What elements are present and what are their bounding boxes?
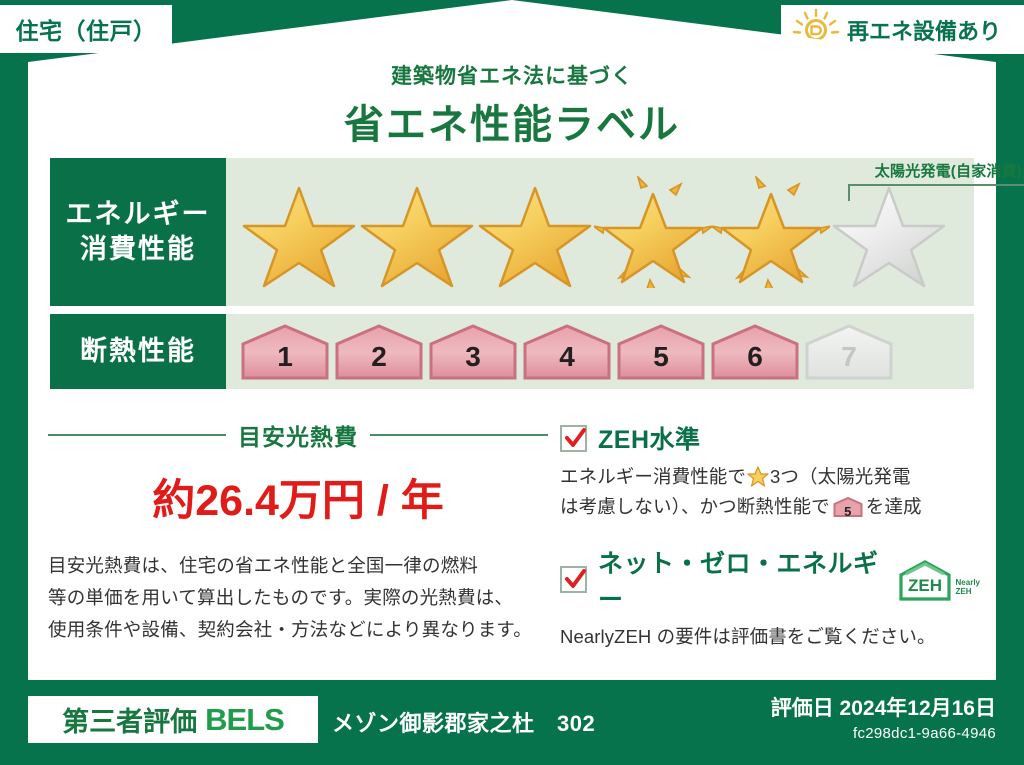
star-icon-solar-4 <box>594 176 712 288</box>
house-level-number: 1 <box>240 341 330 373</box>
checkbox-net-zero-energy[interactable] <box>560 566 587 593</box>
insulation-house-group: 1 2 3 <box>226 314 974 389</box>
property-name: メゾン御影郡家之杜 302 <box>332 706 595 738</box>
checkbox-zeh-standard[interactable] <box>560 425 587 452</box>
house-level-number: 3 <box>428 341 518 373</box>
cost-note-line-2: 等の単価を用いて算出したものです。実際の光熱費は、 <box>48 582 548 614</box>
evaluation-meta: 評価日 2024年12月16日 fc298dc1-9a66-4946 <box>771 692 996 742</box>
house-level-number: 5 <box>616 341 706 373</box>
renewable-equipment-label: 再エネ設備あり <box>847 14 1001 46</box>
zeh-standard-row: ZEH水準 <box>560 420 980 456</box>
footer-bar: 第三者評価 BELS メゾン御影郡家之杜 302 評価日 2024年12月16日… <box>0 682 1024 765</box>
estimated-cost-note: 目安光熱費は、住宅の省エネ性能と全国一律の燃料 等の単価を用いて算出したものです… <box>48 550 548 645</box>
page-title: 省エネ性能ラベル <box>0 92 1024 150</box>
house-icon-level-7: 7 <box>804 324 894 380</box>
house-level-number: 6 <box>710 341 800 373</box>
estimated-cost-value: 約26.4万円 / 年 <box>48 466 548 528</box>
nearly-zeh-line1: Nearly <box>956 578 980 587</box>
house-inline-number: 5 <box>833 501 863 522</box>
star-icon-solar-5 <box>712 176 830 288</box>
zeh-desc-part-d: を達成 <box>866 496 922 517</box>
zeh-desc-part-a: エネルギー消費性能で <box>560 466 746 487</box>
house-level-number: 7 <box>804 341 894 373</box>
cost-note-line-3: 使用条件や設備、契約会社・方法などにより異なります。 <box>48 614 548 646</box>
zeh-desc-part-b: 3つ（太陽光発電 <box>770 466 911 487</box>
insulation-rating-track: 1 2 3 <box>226 314 974 389</box>
house-icon-level-1: 1 <box>240 324 330 380</box>
label-heading: 建築物省エネ法に基づく 省エネ性能ラベル <box>0 60 1024 150</box>
estimated-cost-heading: 目安光熱費 <box>48 418 548 452</box>
house-level-number: 2 <box>334 341 424 373</box>
house-icon-level-5: 5 <box>616 324 706 380</box>
star-icon-filled-1 <box>240 176 358 288</box>
energy-performance-label: 住宅（住戸） <box>0 0 1024 765</box>
solar-bracket <box>848 184 1024 201</box>
house-icon-level-3: 3 <box>428 324 518 380</box>
bels-badge: 第三者評価 BELS <box>28 696 318 743</box>
cost-note-line-1: 目安光熱費は、住宅の省エネ性能と全国一律の燃料 <box>48 550 548 582</box>
insulation-row: 断熱性能 1 <box>50 314 974 389</box>
net-zero-energy-description: NearlyZEH の要件は評価書をご覧ください。 <box>560 622 980 652</box>
zeh-standard-title: ZEH水準 <box>598 420 701 456</box>
energy-rating-track: 太陽光発電(自家消費)分 <box>226 158 974 306</box>
svg-text:ZEH: ZEH <box>908 576 942 595</box>
house-icon-level-4: 4 <box>522 324 612 380</box>
insulation-label: 断熱性能 <box>50 314 226 389</box>
house-icon-level-2: 2 <box>334 324 424 380</box>
housing-type-tag: 住宅（住戸） <box>0 5 172 53</box>
zeh-desc-part-c: は考慮しない）、かつ断熱性能で <box>560 496 830 517</box>
estimated-cost-section: 目安光熱費 約26.4万円 / 年 目安光熱費は、住宅の省エネ性能と全国一律の燃… <box>48 418 548 645</box>
house-level-number: 4 <box>522 341 612 373</box>
bels-en-label: BELS <box>205 702 284 738</box>
label-subtitle: 建築物省エネ法に基づく <box>0 60 1024 90</box>
ratings-section: エネルギー 消費性能 <box>50 158 974 397</box>
energy-label-line1: エネルギー <box>66 197 211 232</box>
estimated-cost-heading-text: 目安光熱費 <box>226 418 370 452</box>
heading-rule-left <box>48 434 226 436</box>
energy-consumption-label: エネルギー 消費性能 <box>50 158 226 306</box>
star-icon-filled-2 <box>358 176 476 288</box>
nearly-zeh-sublabel: Nearly ZEH <box>956 579 980 597</box>
evaluation-date: 評価日 2024年12月16日 <box>771 692 996 722</box>
house-icon-inline-level5: 5 <box>833 497 863 517</box>
energy-label-line2: 消費性能 <box>80 232 196 267</box>
housing-type-label: 住宅（住戸） <box>16 12 157 46</box>
net-zero-energy-title: ネット・ゼロ・エネルギー <box>598 544 887 616</box>
house-icon-level-6: 6 <box>710 324 800 380</box>
energy-consumption-row: エネルギー 消費性能 <box>50 158 974 306</box>
zeh-logo: ZEH Nearly ZEH <box>897 559 980 601</box>
bels-jp-label: 第三者評価 <box>62 700 197 739</box>
solar-annotation: 太陽光発電(自家消費)分 <box>836 160 1024 201</box>
net-zero-energy-row: ネット・ゼロ・エネルギー ZEH Nearly ZEH <box>560 544 980 616</box>
star-icon-filled-3 <box>476 176 594 288</box>
insulation-label-text: 断熱性能 <box>80 334 196 369</box>
heading-rule-right <box>370 434 548 436</box>
zeh-standard-description: エネルギー消費性能で3つ（太陽光発電 は考慮しない）、かつ断熱性能で5を達成 <box>560 462 980 522</box>
star-icon-inline <box>747 466 769 487</box>
zeh-section: ZEH水準 エネルギー消費性能で3つ（太陽光発電 は考慮しない）、かつ断熱性能で… <box>560 420 980 652</box>
evaluation-id: fc298dc1-9a66-4946 <box>771 725 996 742</box>
nearly-zeh-line2: ZEH <box>956 587 972 596</box>
solar-annotation-text: 太陽光発電(自家消費)分 <box>836 160 1024 181</box>
